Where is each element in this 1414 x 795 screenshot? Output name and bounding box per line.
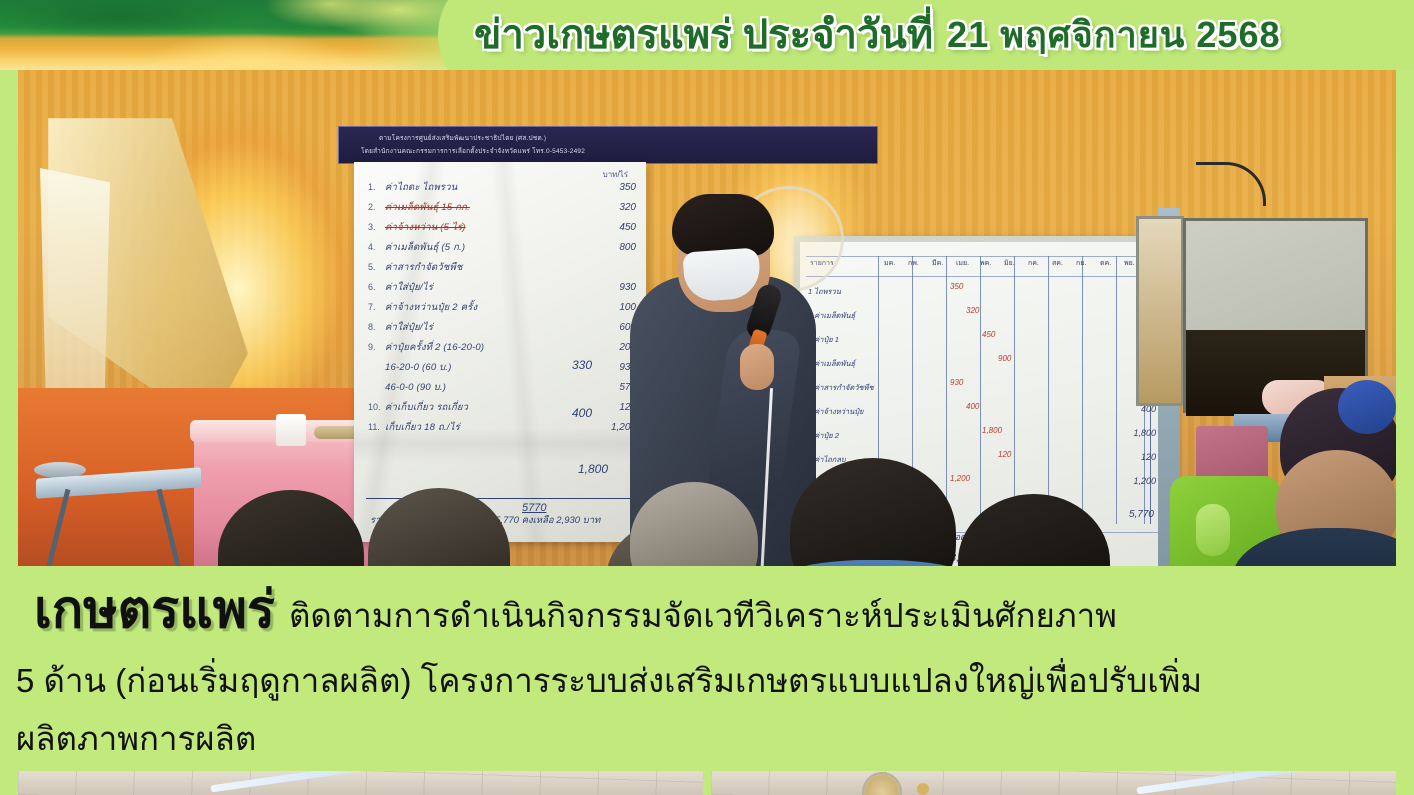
flipchart-row-number: 1. xyxy=(368,182,379,192)
flipchart-row-label: ค่าใส่ปุ๋ย/ไร่ xyxy=(385,320,613,335)
whiteboard-row-total: 120 xyxy=(1141,452,1156,462)
whiteboard-header-cell: มค. xyxy=(884,258,895,269)
event-banner-line1: ตามโครงการศูนย์ส่งเสริมพัฒนาประชาธิปไตย … xyxy=(379,133,546,143)
whiteboard-red-entry: 350 xyxy=(950,282,963,291)
caption-text-line1: ติดตามการดำเนินกิจกรรมจัดเวทีวิเคราะห์ปร… xyxy=(289,599,1117,632)
main-photo-content: ตามโครงการศูนย์ส่งเสริมพัฒนาประชาธิปไตย … xyxy=(18,58,1396,578)
flipchart-brace-2: 400 xyxy=(572,406,592,420)
flipchart-row-label: ค่าปุ๋ยครั้งที่ 2 (16-20-0) xyxy=(385,340,613,355)
header-date-text: 21 พฤศจิกายน 2568 xyxy=(947,17,1280,53)
flipchart-row-number: 5. xyxy=(368,262,379,272)
flipchart-row-label: เก็บเกี่ยว 18 ถ./ไร่ xyxy=(385,420,605,435)
flipchart-row-number: 8. xyxy=(368,322,379,332)
event-banner-line2: โดยสำนักงานคณะกรรมการการเลือกตั้งประจำจั… xyxy=(361,146,585,156)
whiteboard-header-cell: มีค. xyxy=(932,258,943,269)
flipchart-row: 1.ค่าไถดะ ไถพรวน350 xyxy=(368,180,636,195)
main-photo: ตามโครงการศูนย์ส่งเสริมพัฒนาประชาธิปไตย … xyxy=(18,58,1396,578)
flipchart-row: 7.ค่าจ้างหว่านปุ๋ย 2 ครั้ง100 xyxy=(368,300,636,315)
caption-panel: เกษตรแพร่ ติดตามการดำเนินกิจกรรมจัดเวทีว… xyxy=(0,566,1414,771)
flipchart-row-label: ค่าสารกำจัดวัชพืช xyxy=(385,260,630,275)
flipchart-row-number: 6. xyxy=(368,282,379,292)
whiteboard-column-line xyxy=(946,256,947,524)
bottom-photo-left xyxy=(18,768,703,795)
flipchart-row-label: ค่าไถดะ ไถพรวน xyxy=(385,180,613,195)
flipchart-row-number: 11. xyxy=(368,422,379,432)
whiteboard-header-cell: กค. xyxy=(1028,258,1039,269)
flipchart-row-label: ค่าเมล็ดพันธุ์ (5 ก.) xyxy=(385,240,613,255)
whiteboard-header-cell: พค. xyxy=(980,258,991,269)
flipchart-row: 4.ค่าเมล็ดพันธุ์ (5 ก.)800 xyxy=(368,240,636,255)
whiteboard-row-line xyxy=(806,256,1162,257)
flipchart-row: 2.ค่าเมล็ดพันธุ์ 15 กก.320 xyxy=(368,200,636,215)
whiteboard-column-line xyxy=(980,256,981,524)
whiteboard-row-line xyxy=(806,276,1162,277)
whiteboard-column-line xyxy=(1082,256,1083,524)
whiteboard-grand-total: 5,770 xyxy=(1129,509,1154,520)
speaker-hand xyxy=(740,344,774,390)
flipchart-brace-3: 1,800 xyxy=(578,462,608,476)
chair-backrest-hole xyxy=(1196,504,1230,556)
whiteboard-red-entry: 1,800 xyxy=(982,426,1002,435)
caption-lead-label: เกษตรแพร่ xyxy=(34,584,275,636)
flipchart-row-number: 2. xyxy=(368,202,379,212)
flipchart-row: 16-20-0 (60 บ.)930 xyxy=(368,360,636,375)
white-cup xyxy=(276,414,306,446)
flipchart-row: 6.ค่าใส่ปุ๋ย/ไร่930 xyxy=(368,280,636,295)
flipchart-row-label: ค่าเมล็ดพันธุ์ 15 กก. xyxy=(385,200,613,215)
flipchart-row: 5.ค่าสารกำจัดวัชพืช xyxy=(368,260,636,275)
flipchart-brace-1: 330 xyxy=(572,358,592,372)
curtain-left-secondary xyxy=(40,168,110,408)
header-title-text: ข่าวเกษตรแพร่ ประจำวันที่ xyxy=(474,15,933,55)
caption-text-line2: 5 ด้าน (ก่อนเริ่มฤดูกาลผลิต) โครงการระบบ… xyxy=(16,654,1202,707)
flipchart-paper: บาท/ไร่ 1.ค่าไถดะ ไถพรวน3502.ค่าเมล็ดพัน… xyxy=(354,162,646,542)
whiteboard-red-entry: 320 xyxy=(966,306,979,315)
whiteboard-header-cell: มิย. xyxy=(1004,258,1015,269)
flipchart-row: 3.ค่าจ้างหว่าน (5 ไร่)450 xyxy=(368,220,636,235)
flipchart-row: 46-0-0 (90 บ.)570 xyxy=(368,380,636,395)
caption-text-line3: ผลิตภาพการผลิต xyxy=(16,712,256,765)
whiteboard-red-entry: 1,200 xyxy=(950,474,970,483)
whiteboard-header-cell: ตค. xyxy=(1100,258,1111,269)
bottom-photo-strips xyxy=(18,768,1396,795)
beanie-hat-top xyxy=(1338,380,1396,434)
ceiling-tiles xyxy=(18,768,703,795)
whiteboard-red-entry: 450 xyxy=(982,330,995,339)
whiteboard-column-line xyxy=(1014,256,1015,524)
whiteboard-red-entry: 930 xyxy=(950,378,963,387)
speaker-hair xyxy=(672,194,774,256)
flipchart-row-label: ค่าจ้างหว่านปุ๋ย 2 ครั้ง xyxy=(385,300,613,315)
flipchart-rows: 1.ค่าไถดะ ไถพรวน3502.ค่าเมล็ดพันธุ์ 15 ก… xyxy=(368,180,636,440)
whiteboard-header-cell: พย. xyxy=(1124,258,1135,269)
flipchart-row: 11.เก็บเกี่ยว 18 ถ./ไร่1,200 xyxy=(368,420,636,435)
whiteboard-header-cell: กย. xyxy=(1076,258,1086,269)
flipchart-row: 10.ค่าเก็บเกี่ยว รถเกี่ยว120 xyxy=(368,400,636,415)
door-panel xyxy=(1136,216,1184,406)
header-band: ข่าวเกษตรแพร่ ประจำวันที่ 21 พฤศจิกายน 2… xyxy=(0,0,1414,70)
bottom-photo-right xyxy=(711,768,1396,795)
caption-first-line: เกษตรแพร่ ติดตามการดำเนินกิจกรรมจัดเวทีว… xyxy=(34,584,1374,636)
flipchart-row-label: ค่าจ้างหว่าน (5 ไร่) xyxy=(385,220,613,235)
news-graphic-root: ข่าวเกษตรแพร่ ประจำวันที่ 21 พฤศจิกายน 2… xyxy=(0,0,1414,795)
flipchart-row-number: 3. xyxy=(368,222,379,232)
whiteboard-red-entry: 400 xyxy=(966,402,979,411)
whiteboard-header-cell: สค. xyxy=(1052,258,1063,269)
whiteboard-header-cell: กพ. xyxy=(908,258,919,269)
flipchart-row-number: 7. xyxy=(368,302,379,312)
whiteboard-red-entry: 120 xyxy=(998,450,1011,459)
event-banner: ตามโครงการศูนย์ส่งเสริมพัฒนาประชาธิปไตย … xyxy=(338,126,878,164)
whiteboard-column-line xyxy=(1048,256,1049,524)
flipchart-row: 8.ค่าใส่ปุ๋ย/ไร่600 xyxy=(368,320,636,335)
whiteboard-column-line xyxy=(1116,256,1117,524)
header-title-group: ข่าวเกษตรแพร่ ประจำวันที่ 21 พฤศจิกายน 2… xyxy=(474,0,1281,70)
whiteboard-row-total: 1,200 xyxy=(1133,476,1156,486)
whiteboard-header-cell: เมย. xyxy=(956,258,969,269)
light-bulb xyxy=(917,783,929,795)
flipchart-row-number: 9. xyxy=(368,342,379,352)
flipchart-row-number: 4. xyxy=(368,242,379,252)
flipchart-row-label: 46-0-0 (90 บ.) xyxy=(385,380,613,395)
flipchart-row-number: 10. xyxy=(368,402,379,412)
flipchart-row-label: ค่าใส่ปุ๋ย/ไร่ xyxy=(385,280,613,295)
whiteboard-red-entry: 900 xyxy=(998,354,1011,363)
flipchart-row: 9.ค่าปุ๋ยครั้งที่ 2 (16-20-0)200 xyxy=(368,340,636,355)
whiteboard-row-total: 1,800 xyxy=(1133,428,1156,438)
